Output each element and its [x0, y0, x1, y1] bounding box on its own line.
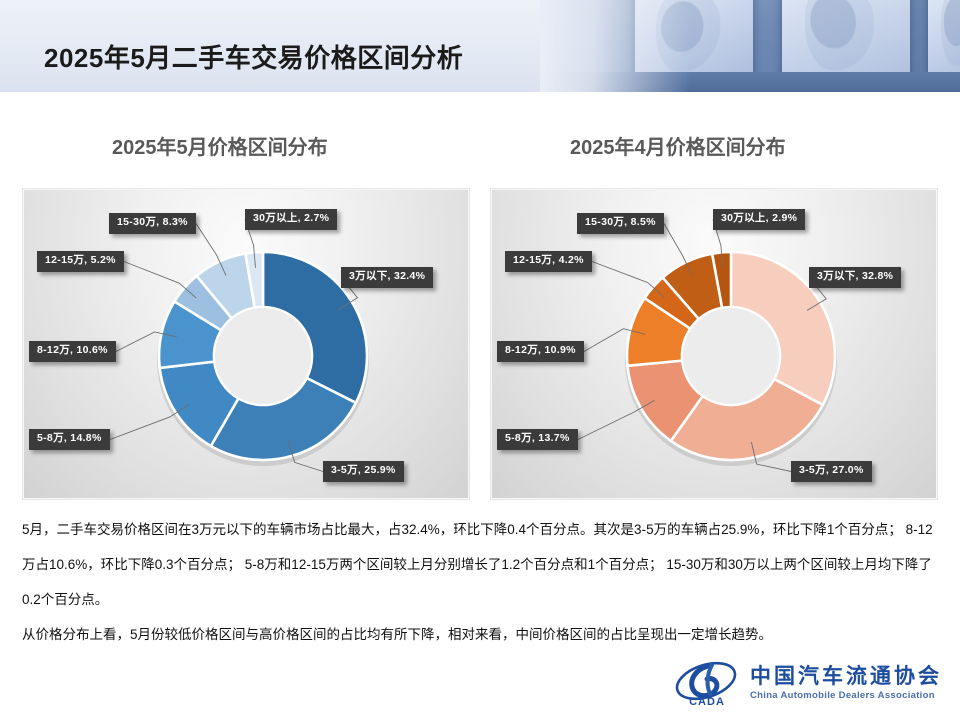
- logo-name-cn: 中国汽车流通协会: [750, 666, 942, 687]
- data-label-callout: 3万以下, 32.8%: [809, 267, 901, 288]
- cada-logo-icon: CADA: [674, 658, 740, 708]
- cada-logo: CADA 中国汽车流通协会 China Automobile Dealers A…: [674, 656, 942, 710]
- logo-name-en: China Automobile Dealers Association: [750, 691, 942, 701]
- data-label-callout: 3万以下, 32.4%: [341, 267, 433, 288]
- data-label-callout: 12-15万, 5.2%: [37, 251, 124, 272]
- chart-subtitle-may: 2025年5月价格区间分布: [112, 131, 328, 160]
- logo-text: 中国汽车流通协会 China Automobile Dealers Associ…: [750, 666, 942, 701]
- data-label-callout: 8-12万, 10.6%: [29, 341, 116, 362]
- data-label-callout: 15-30万, 8.3%: [109, 213, 196, 234]
- chart-panel-may: 3万以下, 32.4%3-5万, 25.9%5-8万, 14.8%8-12万, …: [22, 188, 470, 500]
- data-label-callout: 3-5万, 25.9%: [323, 461, 404, 482]
- analysis-paragraph-1: 5月，二手车交易价格区间在3万元以下的车辆市场占比最大，占32.4%，环比下降0…: [22, 512, 937, 617]
- data-label-callout: 8-12万, 10.9%: [497, 341, 584, 362]
- page-title: 2025年5月二手车交易价格区间分析: [44, 38, 463, 75]
- chart-panel-april: 3万以下, 32.8%3-5万, 27.0%5-8万, 13.7%8-12万, …: [490, 188, 938, 500]
- cada-mark-svg: CADA: [674, 658, 740, 708]
- globe-icon: [805, 0, 879, 80]
- data-label-callout: 15-30万, 8.5%: [577, 213, 664, 234]
- header-art-fade: [540, 0, 690, 92]
- data-label-callout: 30万以上, 2.9%: [713, 209, 805, 230]
- donut-hole: [215, 308, 311, 404]
- data-label-callout: 5-8万, 14.8%: [29, 429, 110, 450]
- data-label-callout: 12-15万, 4.2%: [505, 251, 592, 272]
- globe-icon: [941, 0, 960, 72]
- chart-subtitle-april: 2025年4月价格区间分布: [570, 131, 786, 160]
- data-label-callout: 3-5万, 27.0%: [791, 461, 872, 482]
- svg-text:CADA: CADA: [689, 696, 725, 708]
- donut-hole: [683, 308, 779, 404]
- data-label-callout: 5-8万, 13.7%: [497, 429, 578, 450]
- data-label-callout: 30万以上, 2.7%: [245, 209, 337, 230]
- analysis-paragraph-2: 从价格分布上看，5月份较低价格区间与高价格区间的占比均有所下降，相对来看，中间价…: [22, 617, 937, 652]
- analysis-text: 5月，二手车交易价格区间在3万元以下的车辆市场占比最大，占32.4%，环比下降0…: [22, 512, 937, 652]
- header-decorative-art: [540, 0, 960, 92]
